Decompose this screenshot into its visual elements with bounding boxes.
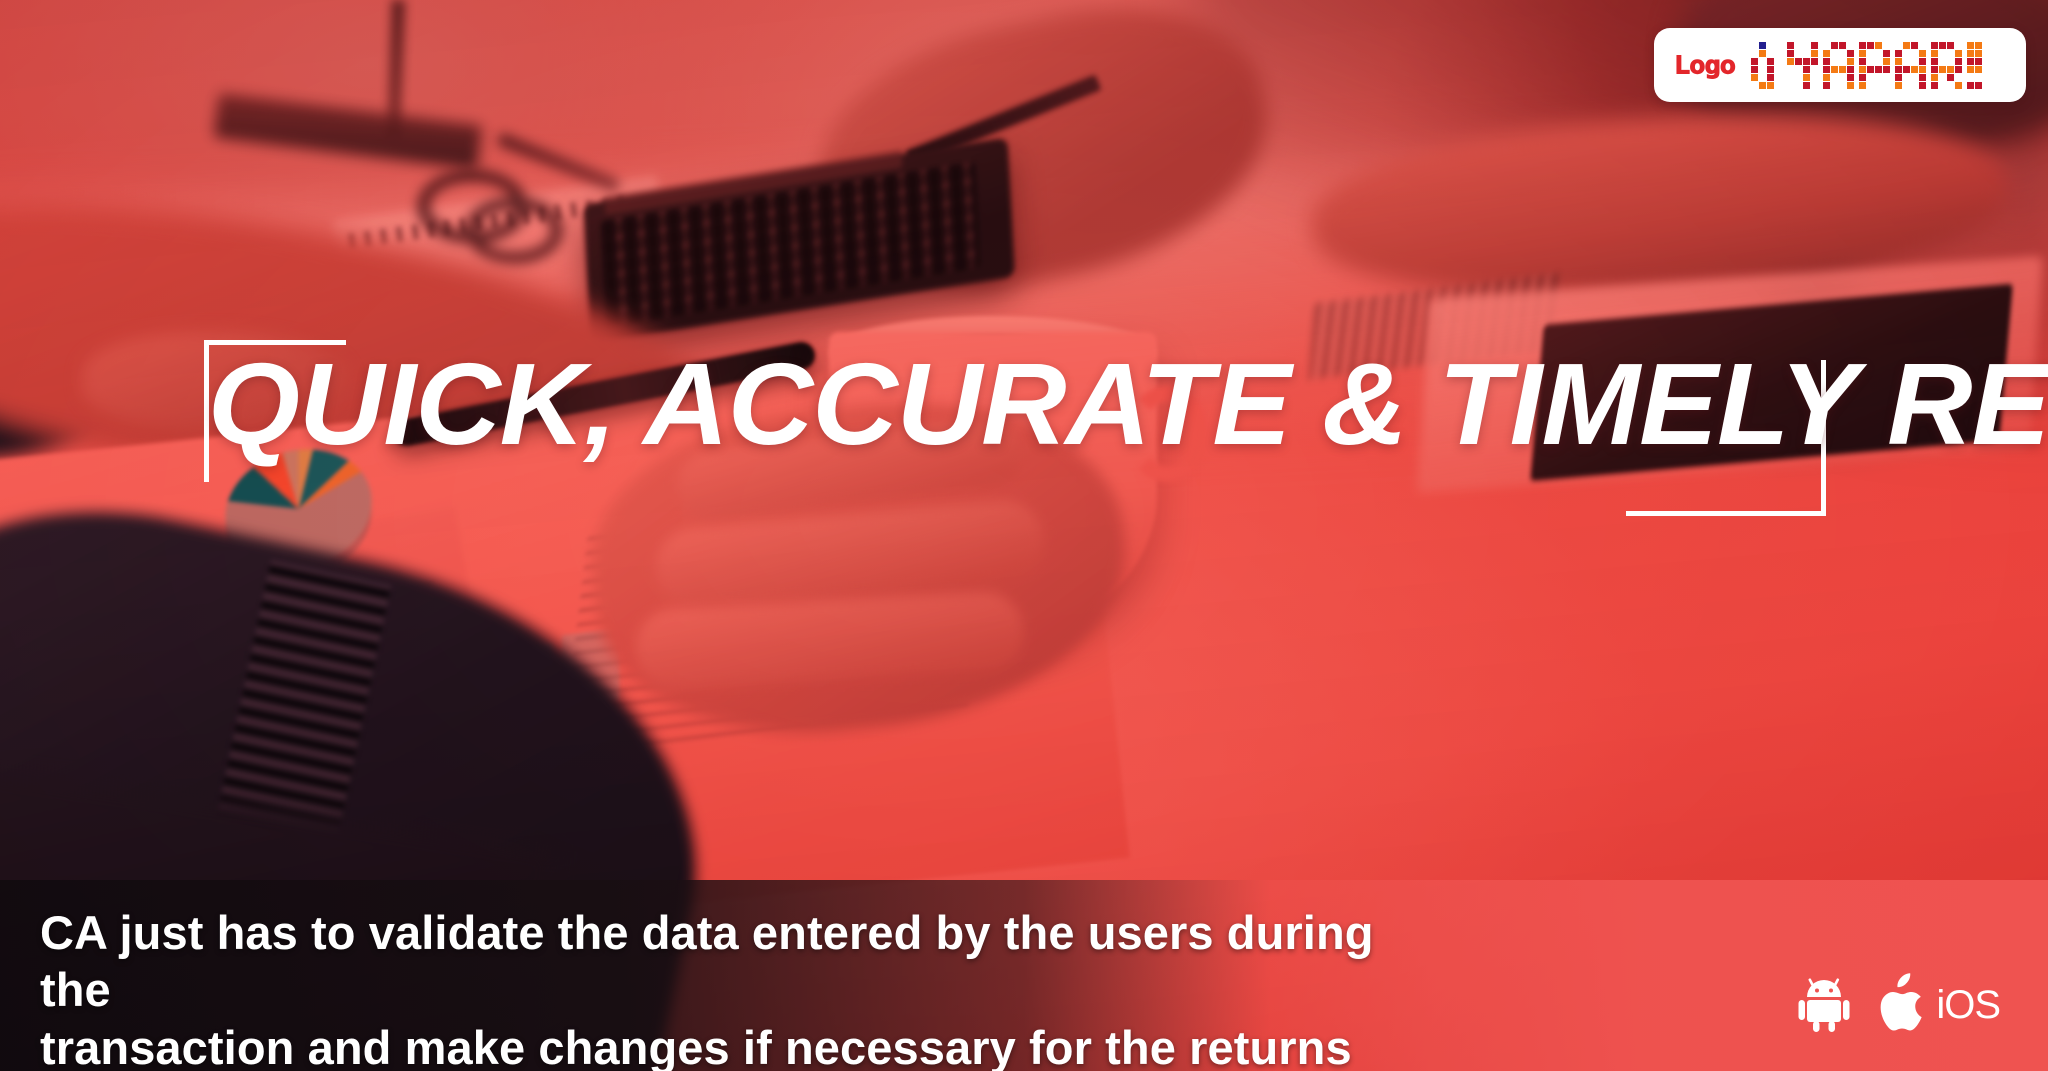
logo-letter-y xyxy=(1787,42,1818,89)
page-title: QUICK, ACCURATE & TIMELY RETURNS xyxy=(208,346,1850,462)
caption-line-1: CA just has to validate the data entered… xyxy=(40,904,1400,1019)
logo-letter-i xyxy=(1967,42,1982,89)
platform-badges: iOS xyxy=(1798,972,2000,1039)
caption-line-2: transaction and make changes if necessar… xyxy=(40,1019,1400,1071)
ios-label: iOS xyxy=(1936,983,2000,1028)
apple-icon[interactable] xyxy=(1876,972,1928,1039)
brand-logo-badge[interactable]: Logo xyxy=(1654,28,2026,102)
headline-block: QUICK, ACCURATE & TIMELY RETURNS xyxy=(204,340,1844,500)
logo-vyapari-pixel-wordmark xyxy=(1751,42,1982,89)
logo-letter-p xyxy=(1859,42,1890,89)
logo-letter-a-2 xyxy=(1895,42,1926,89)
caption-bar: CA just has to validate the data entered… xyxy=(0,880,2048,1071)
caption-text: CA just has to validate the data entered… xyxy=(40,904,1400,1071)
android-icon[interactable] xyxy=(1798,974,1850,1037)
logo-letter-v xyxy=(1751,42,1782,89)
logo-letter-a xyxy=(1823,42,1854,89)
promo-banner: Logo xyxy=(0,0,2048,1071)
logo-letter-r xyxy=(1931,42,1962,89)
logo-prefix-text: Logo xyxy=(1674,53,1735,78)
ios-badge[interactable]: iOS xyxy=(1876,972,2000,1039)
